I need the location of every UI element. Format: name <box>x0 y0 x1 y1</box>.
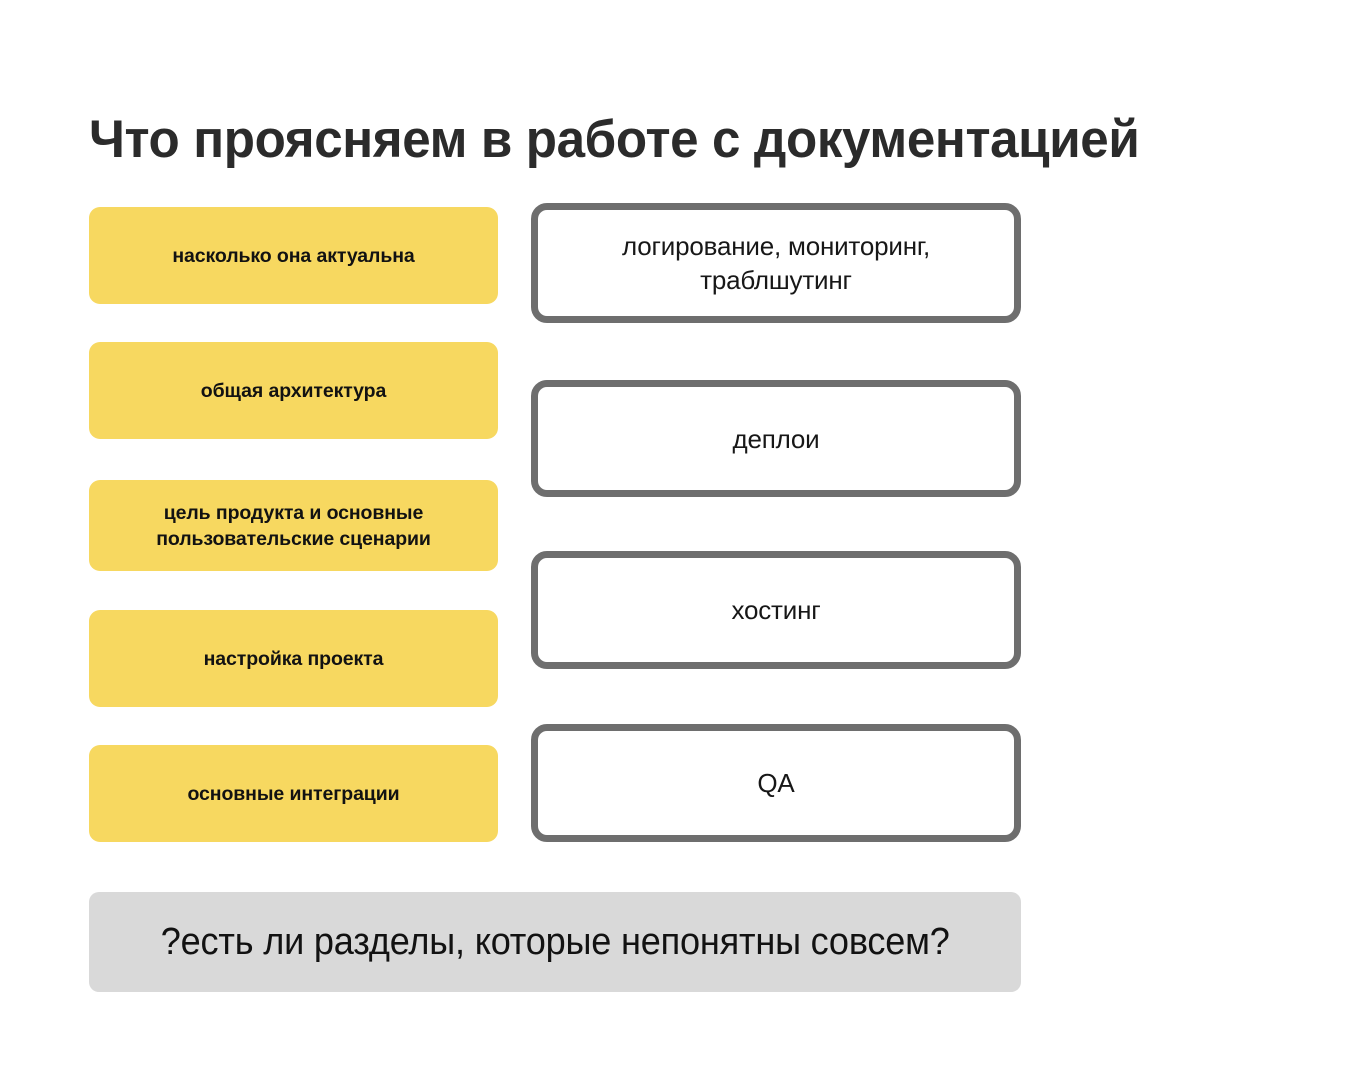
footer-question-bar: ?есть ли разделы, которые непонятны совс… <box>89 892 1021 992</box>
detail-box-label: QA <box>757 766 794 800</box>
topic-chip[interactable]: насколько она актуальна <box>89 207 498 304</box>
topic-chip-label: основные интеграции <box>188 781 400 807</box>
topic-chip[interactable]: цель продукта и основные пользовательски… <box>89 480 498 571</box>
topic-chip-label: общая архитектура <box>201 378 386 404</box>
topic-chip[interactable]: общая архитектура <box>89 342 498 439</box>
topic-chip-label: цель продукта и основные пользовательски… <box>103 500 484 552</box>
detail-box[interactable]: QA <box>531 724 1021 842</box>
slide-canvas: Что проясняем в работе с документацией н… <box>0 0 1363 1080</box>
detail-box[interactable]: логирование, мониторинг, траблшутинг <box>531 203 1021 323</box>
topic-chip-label: настройка проекта <box>204 646 384 672</box>
detail-box[interactable]: деплои <box>531 380 1021 497</box>
topic-chip[interactable]: настройка проекта <box>89 610 498 707</box>
topic-chip-label: насколько она актуальна <box>172 243 414 269</box>
page-title: Что проясняем в работе с документацией <box>89 108 1247 172</box>
detail-box-label: деплои <box>733 422 820 456</box>
detail-box[interactable]: хостинг <box>531 551 1021 669</box>
detail-box-label: хостинг <box>731 593 820 627</box>
detail-box-label: логирование, мониторинг, траблшутинг <box>556 229 996 297</box>
footer-question-text: ?есть ли разделы, которые непонятны совс… <box>161 919 950 965</box>
topic-chip[interactable]: основные интеграции <box>89 745 498 842</box>
